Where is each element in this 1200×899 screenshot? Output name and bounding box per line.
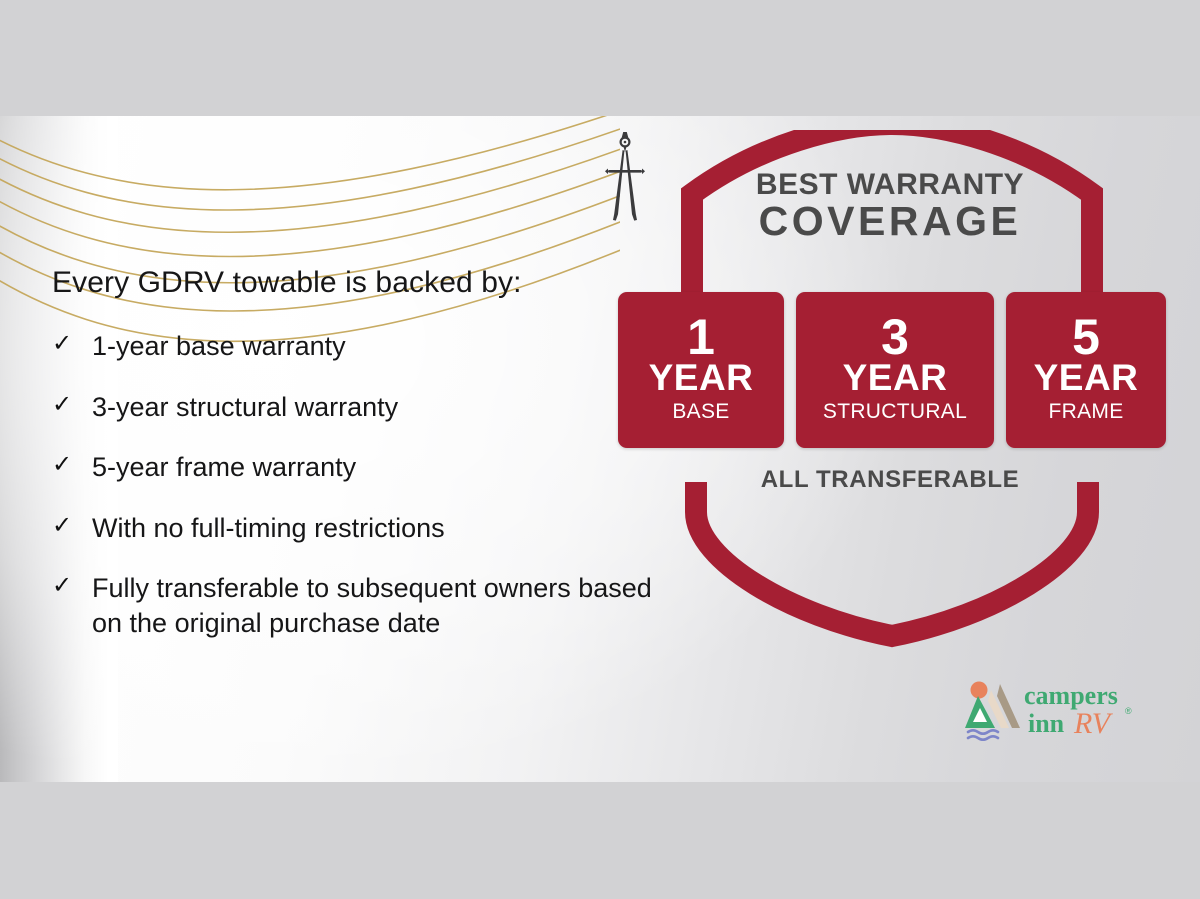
checkmark-icon: ✓	[52, 571, 92, 602]
badge-title-line2: COVERAGE	[690, 200, 1090, 243]
list-item: ✓ 5-year frame warranty	[52, 450, 652, 485]
list-item-label: Fully transferable to subsequent owners …	[92, 571, 652, 640]
list-item-label: 5-year frame warranty	[92, 450, 652, 485]
logo-water-icon	[968, 730, 998, 739]
checkmark-icon: ✓	[52, 329, 92, 360]
tier-kind: BASE	[672, 399, 729, 424]
badge-title-line1: BEST WARRANTY	[690, 170, 1090, 200]
list-item: ✓ Fully transferable to subsequent owner…	[52, 571, 652, 640]
warranty-shield-badge: BEST WARRANTY COVERAGE 1 YEAR BASE 3 YEA…	[600, 130, 1180, 650]
list-item-label: 3-year structural warranty	[92, 390, 652, 425]
tier-kind: FRAME	[1049, 399, 1124, 424]
tier-number: 5	[1072, 314, 1100, 360]
drafting-compass-icon	[600, 130, 650, 222]
tier-box-frame: 5 YEAR FRAME	[1006, 292, 1166, 448]
logo-word-inn: inn	[1028, 709, 1065, 738]
logo-word-rv: RV	[1073, 707, 1114, 740]
logo-word-campers: campers	[1024, 681, 1118, 710]
tier-box-structural: 3 YEAR STRUCTURAL	[796, 292, 994, 448]
list-item-label: 1-year base warranty	[92, 329, 652, 364]
page-title: Every GDRV towable is backed by:	[52, 266, 652, 299]
campers-inn-rv-logo: campers inn RV ®	[962, 678, 1142, 742]
tier-kind: STRUCTURAL	[823, 399, 967, 424]
list-item: ✓ 1-year base warranty	[52, 329, 652, 364]
checkmark-icon: ✓	[52, 450, 92, 481]
logo-registered-mark: ®	[1125, 706, 1132, 716]
checkmark-icon: ✓	[52, 390, 92, 421]
badge-footer-label: ALL TRANSFERABLE	[690, 466, 1090, 494]
checkmark-icon: ✓	[52, 511, 92, 542]
tier-box-base: 1 YEAR BASE	[618, 292, 784, 448]
list-item-label: With no full-timing restrictions	[92, 511, 652, 546]
tier-unit: YEAR	[649, 360, 754, 396]
list-item: ✓ With no full-timing restrictions	[52, 511, 652, 546]
tier-unit: YEAR	[843, 360, 948, 396]
list-item: ✓ 3-year structural warranty	[52, 390, 652, 425]
tier-number: 1	[687, 314, 715, 360]
badge-title: BEST WARRANTY COVERAGE	[690, 170, 1090, 243]
tier-unit: YEAR	[1034, 360, 1139, 396]
warranty-bullet-list: ✓ 1-year base warranty ✓ 3-year structur…	[52, 329, 652, 640]
tier-number: 3	[881, 314, 909, 360]
warranty-copy-block: Every GDRV towable is backed by: ✓ 1-yea…	[52, 266, 652, 640]
warranty-tier-boxes: 1 YEAR BASE 3 YEAR STRUCTURAL 5 YEAR FRA…	[618, 292, 1166, 448]
slide-stage: Every GDRV towable is backed by: ✓ 1-yea…	[0, 0, 1200, 899]
logo-sun-icon	[971, 682, 988, 699]
